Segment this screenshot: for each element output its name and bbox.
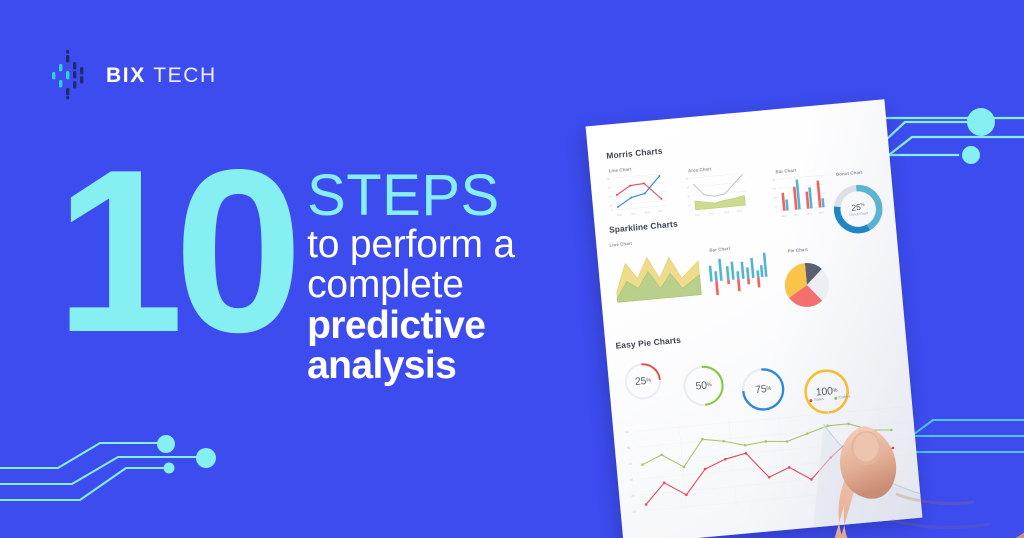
chart-donut-morris: 25% Donut Chart (828, 179, 889, 240)
headline-line-4: analysis (307, 346, 515, 387)
svg-text:2013: 2013 (806, 212, 812, 216)
chart-sparkline-bar (706, 250, 772, 303)
donut-center-label: 25% Donut Chart (828, 179, 889, 240)
easy-pie-75-value: 75 (755, 383, 767, 396)
svg-text:2012: 2012 (709, 212, 715, 216)
svg-text:40: 40 (687, 195, 691, 198)
headline-line-3: predictive (307, 306, 515, 347)
svg-text:20: 20 (688, 204, 692, 207)
circuit-node (196, 448, 216, 468)
brand-name-bold: BIX (106, 64, 146, 87)
svg-text:2011: 2011 (617, 213, 623, 217)
headline-lines: STEPS to perform a complete predictive a… (307, 168, 515, 387)
svg-text:60: 60 (608, 186, 612, 189)
svg-text:2011: 2011 (695, 213, 701, 217)
circuit-node (157, 435, 175, 453)
chart-pie-sparkline (776, 255, 837, 316)
svg-text:0: 0 (690, 209, 692, 212)
legend-swatch-orders (834, 396, 837, 399)
svg-text:2014: 2014 (818, 211, 824, 215)
promo-banner: BIX TECH 10 STEPS to perform a complete … (0, 0, 1024, 538)
svg-text:50: 50 (627, 446, 631, 450)
svg-text:40: 40 (609, 195, 613, 198)
svg-text:2012: 2012 (793, 213, 799, 217)
svg-text:40: 40 (628, 462, 632, 466)
svg-text:60: 60 (686, 186, 690, 189)
svg-text:20: 20 (631, 494, 635, 498)
circuit-node (164, 463, 175, 474)
chart-line-morris: 8060 4020 0 20112012 20132014 (604, 169, 670, 218)
headline-block: 10 STEPS to perform a complete predictiv… (55, 158, 515, 387)
section-title-sparkline: Sparkline Charts (609, 219, 679, 235)
svg-text:2014: 2014 (737, 210, 743, 214)
svg-text:2013: 2013 (724, 211, 730, 215)
paper-sheet: Morris Charts Line Chart 8060 4020 0 (586, 99, 923, 538)
chart-title-spark-bar: Bar Chart (709, 246, 730, 253)
paper-curl (794, 416, 923, 530)
section-title-morris: Morris Charts (606, 146, 663, 161)
headline-line-2: complete (307, 265, 515, 306)
donut-unit: % (860, 201, 864, 206)
easy-pie-50-value: 50 (695, 380, 707, 393)
easy-pie-25: 25% (621, 360, 664, 403)
printed-dashboard-paper: Morris Charts Line Chart 8060 4020 0 (586, 99, 923, 538)
circuit-node (962, 146, 980, 164)
chart-title-spark-line: Line Chart (609, 241, 632, 248)
easy-pie-100-unit: % (832, 388, 837, 394)
brand-wordmark: BIX TECH (106, 65, 217, 86)
easy-pie-50-unit: % (707, 382, 712, 388)
legend-swatch-sales (809, 399, 812, 402)
chart-title-donut: Donut Chart (836, 170, 863, 177)
svg-text:80: 80 (772, 178, 776, 181)
svg-text:20: 20 (610, 204, 614, 207)
svg-text:20: 20 (775, 205, 779, 208)
bix-diamond-dots-logo-icon (52, 50, 92, 100)
svg-text:2014: 2014 (657, 210, 663, 214)
chart-area-morris: 8060 4020 0 20112012 20132014 (682, 169, 750, 219)
svg-text:80: 80 (607, 177, 611, 180)
easy-pie-75: 75% (738, 364, 788, 414)
circuit-node (967, 108, 995, 136)
easy-pie-25-value: 25 (634, 375, 646, 388)
svg-text:2013: 2013 (645, 211, 651, 215)
svg-text:60: 60 (625, 430, 629, 434)
brand-name-light: TECH (153, 64, 217, 87)
easy-pie-50: 50% (680, 362, 728, 410)
svg-text:10: 10 (633, 509, 637, 513)
svg-text:60: 60 (773, 187, 777, 190)
headline-line-1: to perform a (307, 225, 515, 266)
chart-sparkline-area (611, 245, 704, 307)
svg-text:0: 0 (776, 210, 778, 213)
svg-text:40: 40 (774, 196, 778, 199)
easy-pie-25-unit: % (646, 378, 651, 384)
brand-logo[interactable]: BIX TECH (52, 50, 217, 100)
easy-pie-75-unit: % (766, 386, 771, 392)
legend-label-sales: Sales (814, 397, 824, 402)
donut-caption: Donut Chart (849, 211, 868, 217)
svg-text:80: 80 (686, 177, 690, 180)
svg-text:2011: 2011 (781, 215, 787, 219)
svg-text:2012: 2012 (631, 212, 637, 216)
chart-bar-morris: 8060 4020 0 20112012 20132014 (769, 171, 831, 220)
svg-text:30: 30 (630, 478, 634, 482)
svg-text:0: 0 (611, 209, 613, 212)
section-title-easy-pie: Easy Pie Charts (615, 335, 681, 351)
chart-title-pie: Pie Chart (787, 247, 808, 254)
headline-steps-word: STEPS (307, 168, 515, 225)
headline-number: 10 (55, 162, 293, 343)
